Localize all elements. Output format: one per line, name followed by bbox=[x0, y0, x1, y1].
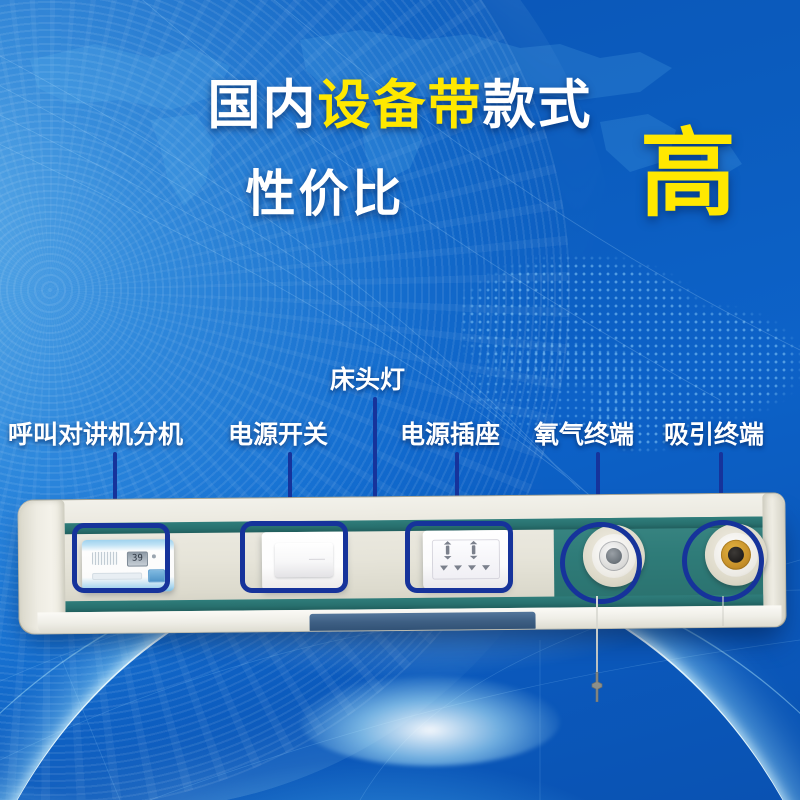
callout-label-oxygen-terminal: 氧气终端 bbox=[534, 415, 634, 451]
highlight-box-power-switch bbox=[240, 521, 348, 593]
suction-terminal-cord bbox=[722, 596, 724, 626]
bed-lamp-pull-cord[interactable] bbox=[596, 596, 598, 672]
highlight-box-power-socket bbox=[405, 521, 513, 593]
highlight-circle-oxygen-terminal bbox=[560, 522, 642, 604]
promo-banner: 国内设备带款式 性价比 高 呼叫对讲机分机 电源开关 床头灯 电源插座 氧气终端… bbox=[0, 0, 800, 800]
callout-label-power-switch: 电源开关 bbox=[228, 415, 328, 451]
highlight-circle-suction-terminal bbox=[682, 520, 764, 602]
callout-label-bed-lamp: 床头灯 bbox=[330, 360, 405, 396]
horizon-glow-core bbox=[300, 676, 560, 766]
pull-cord-handle-icon[interactable] bbox=[588, 672, 606, 702]
callout-label-nurse-call-intercom: 呼叫对讲机分机 bbox=[8, 415, 183, 451]
headline-big-word: 高 bbox=[640, 126, 736, 222]
callout-label-power-socket: 电源插座 bbox=[400, 415, 500, 451]
callout-label-suction-terminal: 吸引终端 bbox=[664, 415, 764, 451]
highlight-box-nurse-call-intercom bbox=[72, 523, 170, 593]
rail-reflection bbox=[309, 612, 535, 633]
